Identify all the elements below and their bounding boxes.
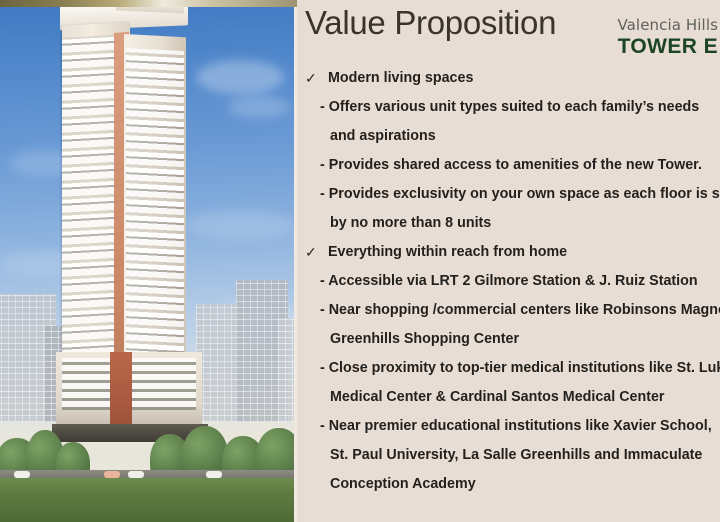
bullet-text: Everything within reach from home	[328, 244, 567, 260]
bullet-detail-line: by no more than 8 units	[300, 209, 720, 238]
bullet-text: and aspirations	[330, 128, 436, 144]
bullet-detail-line: - Near premier educational institutions …	[300, 412, 720, 441]
brand-logo: Valencia Hills TOWER E	[617, 16, 718, 59]
bullet-text: - Near premier educational institutions …	[320, 418, 712, 434]
check-icon: ✓	[305, 238, 317, 267]
bullet-heading: ✓Modern living spaces	[300, 64, 720, 93]
bullet-heading: ✓Everything within reach from home	[300, 238, 720, 267]
bullet-detail-line: St. Paul University, La Salle Greenhills…	[300, 441, 720, 470]
lawn	[0, 478, 297, 522]
bullet-detail-line: - Provides shared access to amenities of…	[300, 151, 720, 180]
bullet-detail-line: - Accessible via LRT 2 Gilmore Station &…	[300, 267, 720, 296]
bullet-text: St. Paul University, La Salle Greenhills…	[330, 447, 702, 463]
bullet-text: Greenhills Shopping Center	[330, 331, 519, 347]
cloud	[186, 210, 296, 240]
car	[104, 471, 120, 478]
bullet-text: Conception Academy	[330, 476, 476, 492]
tower-building	[62, 14, 194, 434]
background-building	[278, 318, 297, 422]
bullet-detail-line: - Close proximity to top-tier medical in…	[300, 354, 720, 383]
building-photo	[0, 0, 297, 522]
bullet-text: Medical Center & Cardinal Santos Medical…	[330, 389, 664, 405]
bullet-detail-line: - Provides exclusivity on your own space…	[300, 180, 720, 209]
brand-name: TOWER E	[617, 35, 718, 59]
bullet-detail-line: - Offers various unit types suited to ea…	[300, 93, 720, 122]
car	[14, 471, 30, 478]
bullet-detail-line: - Near shopping /commercial centers like…	[300, 296, 720, 325]
bullet-text: - Accessible via LRT 2 Gilmore Station &…	[320, 273, 698, 289]
car	[128, 471, 144, 478]
bullet-text: - Provides exclusivity on your own space…	[320, 186, 720, 202]
bullet-detail-line: Medical Center & Cardinal Santos Medical…	[300, 383, 720, 412]
car	[206, 471, 222, 478]
slide-content-panel: Value Proposition Valencia Hills TOWER E…	[300, 0, 720, 522]
brand-subtitle: Valencia Hills	[617, 16, 718, 34]
bullet-detail-line: Greenhills Shopping Center	[300, 325, 720, 354]
bullet-detail-line: and aspirations	[300, 122, 720, 151]
bullet-text: - Provides shared access to amenities of…	[320, 157, 702, 173]
bullet-text: - Near shopping /commercial centers like…	[320, 302, 720, 318]
cloud	[196, 60, 284, 94]
check-icon: ✓	[305, 64, 317, 93]
bullet-detail-line: Conception Academy	[300, 470, 720, 499]
bullet-text: - Offers various unit types suited to ea…	[320, 99, 699, 115]
bullet-text: Modern living spaces	[328, 70, 473, 86]
top-edge-strip	[0, 0, 297, 7]
cloud	[228, 96, 290, 118]
bullet-list: ✓Modern living spaces- Offers various un…	[300, 64, 720, 499]
page-title: Value Proposition	[305, 4, 556, 42]
bullet-text: - Close proximity to top-tier medical in…	[320, 360, 720, 376]
bullet-text: by no more than 8 units	[330, 215, 491, 231]
